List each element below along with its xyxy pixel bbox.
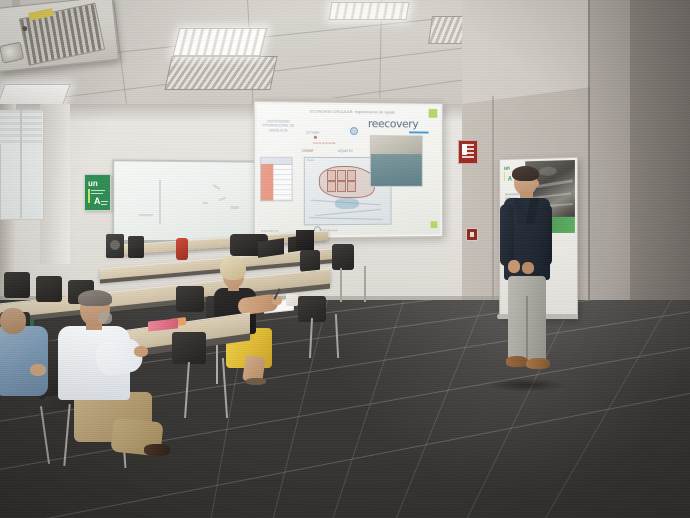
slide-node-icon	[350, 127, 358, 135]
attendee-white-shirt	[52, 292, 162, 492]
projector-lens-icon	[0, 42, 24, 64]
classroom-photo: un A ECONOMÍA CIRCULAR: regeneración de …	[0, 0, 690, 518]
chair-leg	[364, 266, 366, 302]
white-cup	[286, 294, 298, 306]
chair	[172, 332, 206, 364]
presenter-arm	[538, 204, 552, 266]
ceiling-light	[173, 28, 268, 56]
slide-aerial-photo	[370, 135, 423, 187]
slide-node-label-aquatec: AQUATEC	[338, 149, 353, 153]
attendee-shoe	[144, 444, 170, 456]
slide-table-highlight-column	[261, 164, 273, 201]
fire-alarm-box[interactable]	[466, 228, 478, 241]
presenter-hand	[522, 262, 534, 274]
attendee-shoe	[246, 378, 266, 385]
speaker-cone-icon	[110, 240, 120, 250]
slide: ECONOMÍA CIRCULAR: regeneración de aguas…	[257, 104, 440, 236]
fire-extinguisher-icon	[462, 144, 467, 155]
attendee-hair	[220, 256, 246, 280]
ceiling-light	[328, 2, 409, 20]
red-equipment	[176, 238, 188, 260]
presenter-trouser-seam	[526, 296, 528, 362]
presenter	[494, 168, 558, 384]
fire-extinguisher-sign-icon	[458, 140, 478, 164]
presenter-shoe	[526, 358, 550, 369]
attendee-hair	[78, 290, 112, 306]
reecovery-logo: reecovery	[368, 117, 418, 130]
wall-seam	[588, 0, 590, 330]
chair	[300, 250, 320, 272]
attendee-beard	[98, 312, 112, 324]
unia-sign-un-text: un	[88, 180, 98, 188]
presenter-shoe	[506, 356, 528, 367]
presenter-arm	[500, 204, 514, 266]
presenter-hand	[508, 260, 520, 273]
ceiling-vent-icon	[164, 56, 277, 90]
chair	[176, 286, 204, 312]
slide-node-icon	[314, 136, 317, 139]
chair	[332, 244, 354, 270]
wall-far-right	[630, 0, 690, 340]
slide-node-label-center: nueva propuesta	[313, 141, 335, 145]
reecovery-logo-underline	[409, 131, 428, 133]
slide-organisation: UNIVERSIDAD INTERNACIONAL DE ANDALUCÍA	[261, 119, 296, 133]
slide-footer-left: Financiado por	[261, 230, 279, 233]
photo-water-area	[371, 154, 422, 186]
slide-accent-square	[429, 109, 438, 118]
slide-accent-square	[431, 221, 438, 228]
monitor	[296, 230, 314, 250]
chair-leg	[340, 268, 342, 302]
unia-sign: un A	[84, 174, 111, 211]
projection-screen: ECONOMÍA CIRCULAR: regeneración de aguas…	[254, 101, 443, 239]
unia-sign-a-text: A	[94, 197, 101, 206]
wall-pillar	[590, 0, 630, 330]
slide-node-label-cetmar: CETMAR	[306, 131, 320, 135]
slide-data-table	[260, 157, 293, 202]
attendee-hand	[30, 364, 46, 376]
window-mullion	[20, 110, 22, 218]
slide-map-caption: Puerto	[307, 159, 314, 162]
attendee-blue-shirt	[0, 316, 54, 406]
attendee-shirt	[0, 326, 48, 396]
attendee-head	[0, 308, 26, 334]
attendee-hand	[134, 346, 148, 357]
presenter-hair	[512, 166, 539, 181]
speaker	[128, 236, 144, 258]
alarm-button-icon[interactable]	[470, 232, 474, 237]
unia-sign-accent-bar	[88, 189, 90, 203]
presenter-ear	[534, 180, 539, 187]
slide-node-label-ciemat: CIEMAT	[302, 149, 314, 153]
chair	[4, 272, 30, 298]
slide-title: ECONOMÍA CIRCULAR: regeneración de aguas	[298, 109, 407, 117]
wall-column	[40, 104, 70, 264]
